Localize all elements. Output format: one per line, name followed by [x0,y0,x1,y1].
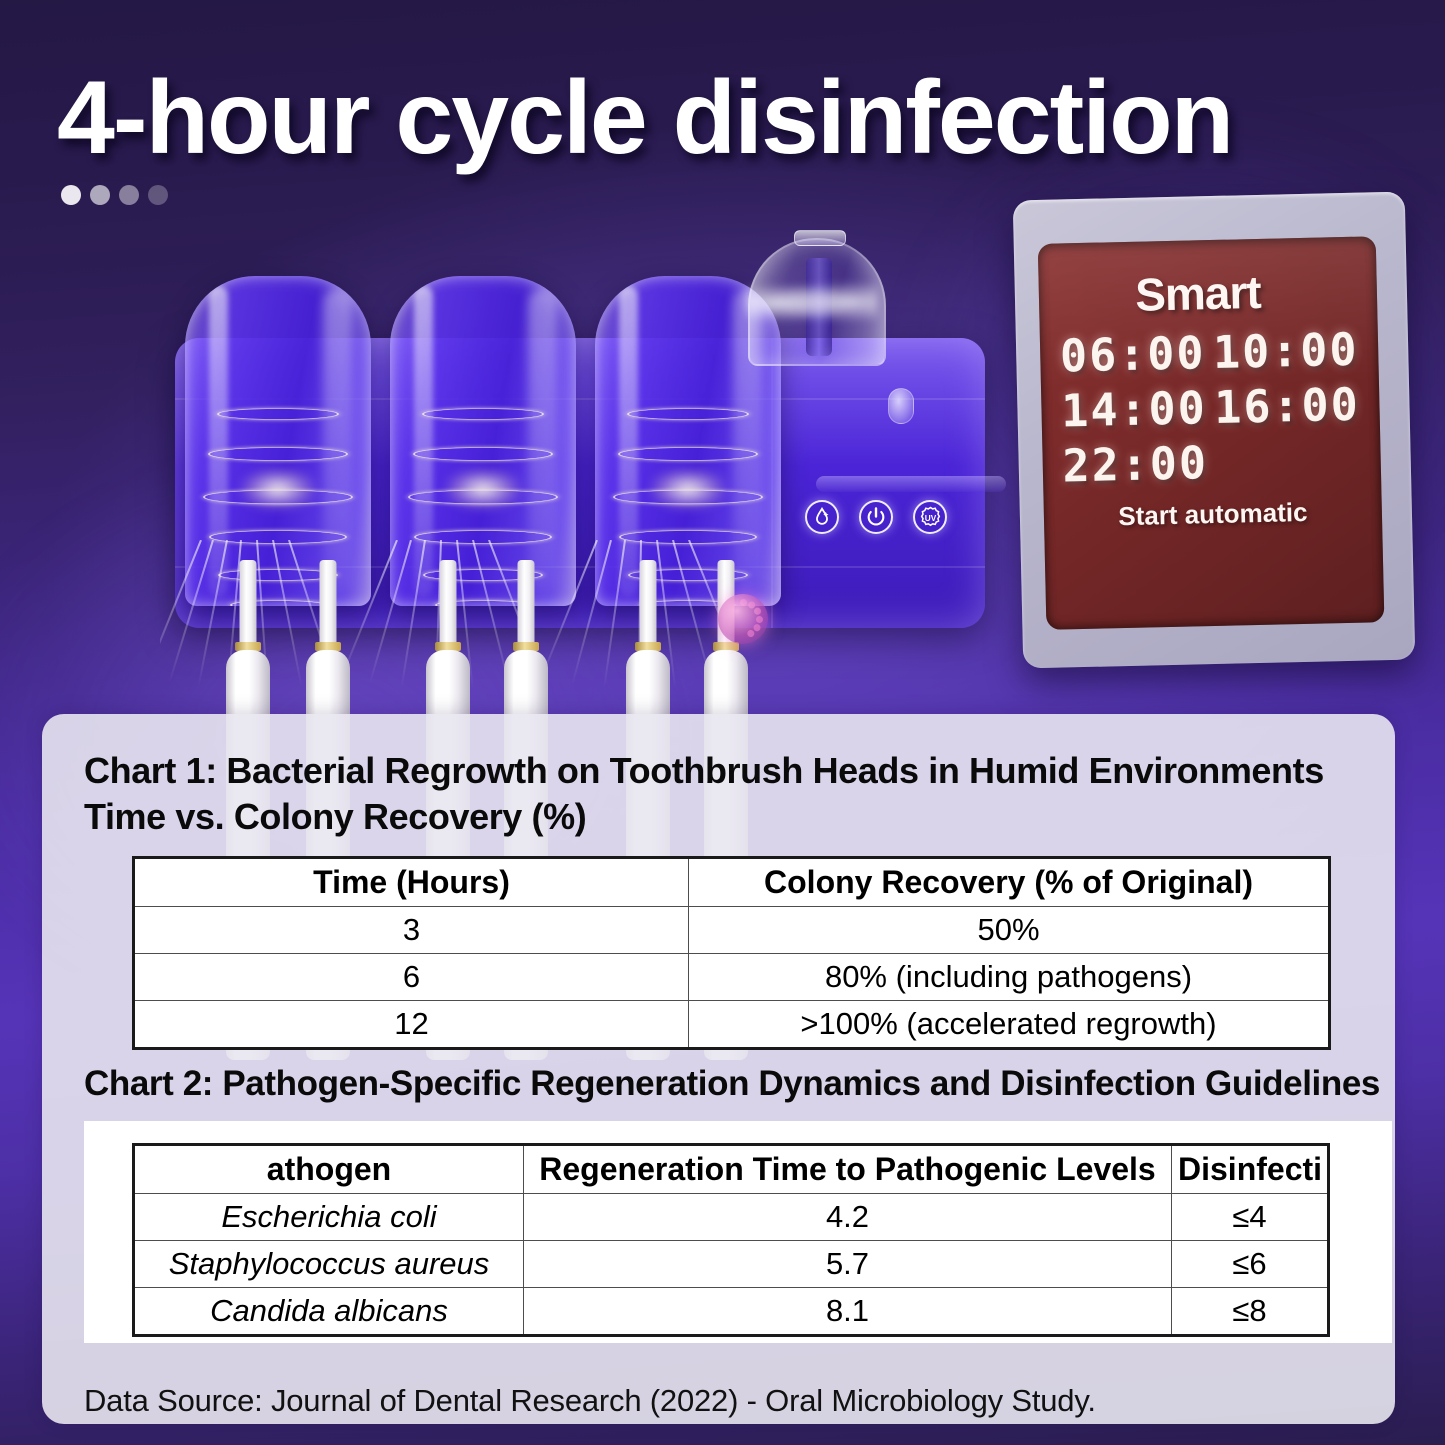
cell-regen-time: 5.7 [524,1240,1172,1287]
schedule-times: 06:00 10:00 14:00 16:00 22:00 [1040,322,1382,493]
col-header-pathogen: athogen [134,1144,524,1193]
start-automatic-label: Start automatic [1044,495,1383,534]
col-header-recovery: Colony Recovery (% of Original) [689,858,1330,907]
virus-particle-icon [706,582,780,656]
dome-lip [794,230,846,246]
cell-pathogen: Staphylococcus aureus [134,1240,524,1287]
table-row: Candida albicans 8.1 ≤8 [134,1287,1329,1335]
cell-recovery: 50% [689,907,1330,954]
cell-recovery: 80% (including pathogens) [689,954,1330,1001]
chart2-table-wrapper: athogen Regeneration Time to Pathogenic … [84,1121,1392,1343]
smart-schedule-display: Smart 06:00 10:00 14:00 16:00 22:00 Star… [1013,192,1416,669]
power-icon[interactable] [859,500,893,534]
cup-dome-unit [730,228,905,368]
table-row: 12 >100% (accelerated regrowth) [134,1001,1330,1049]
chart1-table: Time (Hours) Colony Recovery (% of Origi… [132,856,1331,1050]
device-vent-slot [816,476,1006,492]
smart-label: Smart [1038,262,1378,324]
dot-1 [61,185,81,205]
slide-indicator-dots [61,185,168,205]
time-slot-1: 06:00 [1058,326,1208,382]
cell-regen-time: 4.2 [524,1193,1172,1240]
data-source-note: Data Source: Journal of Dental Research … [84,1383,1367,1419]
time-slot-5: 22:00 [1060,436,1210,492]
infographic-background: 4-hour cycle disinfection [0,0,1445,1445]
chart2-table: athogen Regeneration Time to Pathogenic … [132,1143,1330,1337]
col-header-regen-time: Regeneration Time to Pathogenic Levels [524,1144,1172,1193]
data-panel: Chart 1: Bacterial Regrowth on Toothbrus… [42,714,1395,1424]
table-row: Escherichia coli 4.2 ≤4 [134,1193,1329,1240]
time-slot-2: 10:00 [1211,323,1361,379]
cell-disinfection: ≤6 [1172,1240,1329,1287]
table-header-row: Time (Hours) Colony Recovery (% of Origi… [134,858,1330,907]
dome-fog [746,280,878,326]
status-led-indicator [888,388,914,424]
table-row: Staphylococcus aureus 5.7 ≤6 [134,1240,1329,1287]
cell-pathogen: Escherichia coli [134,1193,524,1240]
cell-disinfection: ≤4 [1172,1193,1329,1240]
dot-2 [90,185,110,205]
cell-time: 12 [134,1001,689,1049]
water-drop-sparkle-icon[interactable] [805,500,839,534]
table-row: 6 80% (including pathogens) [134,954,1330,1001]
dot-4 [148,185,168,205]
dot-3 [119,185,139,205]
col-header-disinfection: Disinfecti [1172,1144,1329,1193]
cell-disinfection: ≤8 [1172,1287,1329,1335]
chart1-title-line2: Time vs. Colony Recovery (%) [84,794,1367,840]
col-header-time: Time (Hours) [134,858,689,907]
table-row: 3 50% [134,907,1330,954]
cell-regen-time: 8.1 [524,1287,1172,1335]
cell-pathogen: Candida albicans [134,1287,524,1335]
svg-text:UV: UV [924,513,936,522]
uv-gear-icon[interactable]: UV [913,500,947,534]
chart1-title: Chart 1: Bacterial Regrowth on Toothbrus… [84,748,1367,840]
chart2-title: Chart 2: Pathogen-Specific Regeneration … [84,1062,1367,1107]
chart1-title-line1: Chart 1: Bacterial Regrowth on Toothbrus… [84,748,1367,794]
cell-time: 6 [134,954,689,1001]
device-control-buttons[interactable]: UV [805,500,947,534]
time-slot-4: 16:00 [1212,378,1362,434]
cell-time: 3 [134,907,689,954]
display-screen: Smart 06:00 10:00 14:00 16:00 22:00 Star… [1038,236,1385,630]
table-header-row: athogen Regeneration Time to Pathogenic … [134,1144,1329,1193]
time-slot-3: 14:00 [1059,381,1209,437]
cell-recovery: >100% (accelerated regrowth) [689,1001,1330,1049]
page-title: 4-hour cycle disinfection [57,62,1307,174]
